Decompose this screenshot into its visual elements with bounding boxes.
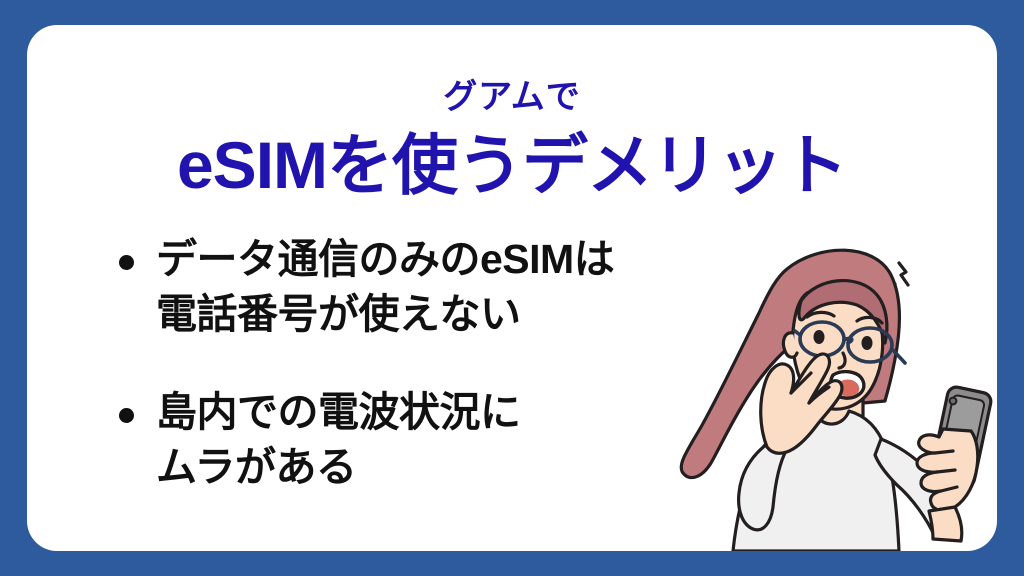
list-item: 島内での電波状況に ムラがある — [101, 385, 721, 494]
slide-canvas: グアムで eSIMを使うデメリット データ通信のみのeSIMは 電話番号が使えな… — [0, 0, 1024, 576]
list-item: データ通信のみのeSIMは 電話番号が使えない — [101, 232, 721, 341]
bullet-dot-icon — [119, 255, 134, 270]
content-card: グアムで eSIMを使うデメリット データ通信のみのeSIMは 電話番号が使えな… — [27, 25, 997, 551]
bullet-dot-icon — [119, 408, 134, 423]
bullet-2-line-1: 島内での電波状況に — [156, 385, 721, 440]
illustration-svg — [667, 241, 997, 551]
bullet-list: データ通信のみのeSIMは 電話番号が使えない 島内での電波状況に ムラがある — [101, 232, 721, 494]
bullet-1-line-1: データ通信のみのeSIMは — [156, 232, 721, 287]
illustration-surprised-woman-with-smartphone — [667, 241, 997, 551]
eye-left — [814, 330, 825, 344]
eyebrow-text: グアムで — [27, 80, 997, 114]
page-title: eSIMを使うデメリット — [27, 128, 997, 204]
eye-right — [862, 336, 873, 350]
bullet-2-line-2: ムラがある — [156, 440, 721, 495]
bullet-1-line-2: 電話番号が使えない — [156, 287, 721, 342]
phone-camera-icon — [950, 398, 957, 405]
